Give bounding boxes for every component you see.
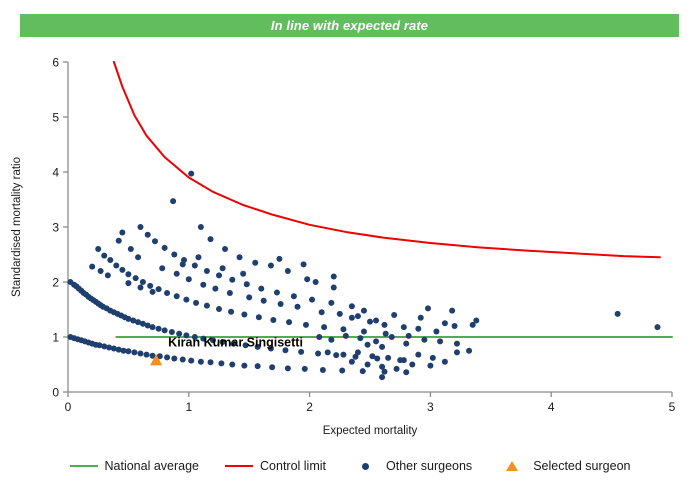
data-point xyxy=(113,263,119,269)
data-point xyxy=(256,314,262,320)
y-tick-label: 5 xyxy=(52,111,59,125)
y-axis-title: Standardised mortality ratio xyxy=(11,157,23,297)
data-point xyxy=(369,353,375,359)
data-point xyxy=(355,313,361,319)
data-point xyxy=(291,293,297,299)
data-point xyxy=(454,341,460,347)
data-point xyxy=(313,279,319,285)
data-point xyxy=(101,253,107,259)
data-point xyxy=(119,230,125,236)
data-point xyxy=(302,366,308,372)
x-tick-label: 2 xyxy=(306,400,313,414)
data-point xyxy=(365,362,371,368)
data-point xyxy=(333,352,339,358)
data-point xyxy=(150,324,156,330)
data-point xyxy=(449,308,455,314)
data-point xyxy=(150,289,156,295)
data-point xyxy=(276,256,282,262)
data-point xyxy=(343,333,349,339)
data-point xyxy=(401,357,407,363)
legend-label-control-limit: Control limit xyxy=(260,460,326,473)
data-point xyxy=(137,224,143,230)
data-point xyxy=(269,364,275,370)
data-point xyxy=(98,268,104,274)
data-point xyxy=(255,363,261,369)
data-point xyxy=(452,323,458,329)
data-point xyxy=(128,246,134,252)
data-point xyxy=(421,337,427,343)
data-point xyxy=(268,263,274,269)
data-point xyxy=(373,338,379,344)
funnel-plot-chart: 0123456012345Expected mortalityStandardi… xyxy=(0,40,700,450)
data-point xyxy=(331,285,337,291)
data-point xyxy=(295,304,301,310)
data-point xyxy=(361,329,367,335)
data-point xyxy=(198,359,204,365)
data-point xyxy=(442,359,448,365)
data-point xyxy=(216,306,222,312)
data-point xyxy=(360,368,366,374)
x-tick-label: 3 xyxy=(427,400,434,414)
data-point xyxy=(164,290,170,296)
data-point xyxy=(212,286,218,292)
data-point xyxy=(116,238,122,244)
data-point xyxy=(285,365,291,371)
data-point xyxy=(95,246,101,252)
data-point xyxy=(193,300,199,306)
data-point xyxy=(357,335,363,341)
data-point xyxy=(105,272,111,278)
data-point xyxy=(340,326,346,332)
data-point xyxy=(349,303,355,309)
data-point xyxy=(156,326,162,332)
data-point xyxy=(270,317,276,323)
data-point xyxy=(125,271,131,277)
data-point xyxy=(162,245,168,251)
data-point xyxy=(286,319,292,325)
data-point xyxy=(303,322,309,328)
data-point xyxy=(188,171,194,177)
legend-item-selected-surgeon[interactable]: Selected surgeon xyxy=(498,460,630,473)
y-tick-label: 6 xyxy=(52,56,59,70)
data-point xyxy=(328,300,334,306)
data-point xyxy=(162,327,168,333)
y-tick-label: 2 xyxy=(52,276,59,290)
chart-legend: National averageControl limitOther surge… xyxy=(0,452,700,480)
data-point xyxy=(198,224,204,230)
data-point xyxy=(241,311,247,317)
data-point xyxy=(361,308,367,314)
data-point xyxy=(285,268,291,274)
data-point xyxy=(466,348,472,354)
data-point xyxy=(316,334,322,340)
data-point xyxy=(433,329,439,335)
data-point xyxy=(409,362,415,368)
data-point xyxy=(394,366,400,372)
legend-label-other-surgeons: Other surgeons xyxy=(386,460,472,473)
legend-item-other-surgeons[interactable]: Other surgeons xyxy=(352,460,472,473)
data-point xyxy=(169,329,175,335)
funnel-plot-page: In line with expected rate 0123456012345… xyxy=(0,0,700,500)
data-point xyxy=(379,374,385,380)
data-point xyxy=(119,267,125,273)
data-point xyxy=(454,349,460,355)
data-point xyxy=(473,318,479,324)
data-point xyxy=(156,286,162,292)
data-point xyxy=(186,276,192,282)
data-point xyxy=(406,333,412,339)
data-point xyxy=(237,254,243,260)
data-point xyxy=(304,276,310,282)
series-line-control-limit xyxy=(114,62,660,257)
data-point xyxy=(159,265,165,271)
data-point xyxy=(137,351,143,357)
data-point xyxy=(437,338,443,344)
data-point xyxy=(442,320,448,326)
chart-container: 0123456012345Expected mortalityStandardi… xyxy=(0,40,700,450)
data-point xyxy=(220,265,226,271)
y-tick-label: 4 xyxy=(52,166,59,180)
legend-label-selected-surgeon: Selected surgeon xyxy=(533,460,630,473)
data-point xyxy=(321,324,327,330)
data-point xyxy=(427,363,433,369)
data-point xyxy=(107,257,113,263)
x-axis-title: Expected mortality xyxy=(323,425,418,437)
data-point xyxy=(192,263,198,269)
y-tick-label: 0 xyxy=(52,386,59,400)
legend-dot-swatch-other-surgeons xyxy=(362,463,369,470)
data-point xyxy=(147,283,153,289)
data-point xyxy=(140,279,146,285)
legend-item-national-average[interactable]: National average xyxy=(70,460,200,473)
data-point xyxy=(180,357,186,363)
data-point xyxy=(137,285,143,291)
data-point xyxy=(229,362,235,368)
data-point xyxy=(195,254,201,260)
data-point xyxy=(164,354,170,360)
series-points-other-surgeons xyxy=(67,171,660,381)
status-banner-label: In line with expected rate xyxy=(271,19,428,32)
legend-triangle-swatch-selected-surgeon xyxy=(506,461,518,471)
data-point xyxy=(349,315,355,321)
data-point xyxy=(171,252,177,258)
data-point xyxy=(258,286,264,292)
selected-surgeon-annotation: Kiran Kumar Singisetti xyxy=(168,336,303,350)
data-point xyxy=(385,355,391,361)
legend-item-control-limit[interactable]: Control limit xyxy=(225,460,326,473)
data-point xyxy=(367,319,373,325)
data-point xyxy=(188,358,194,364)
data-point xyxy=(298,349,304,355)
data-point xyxy=(340,352,346,358)
data-point xyxy=(240,271,246,277)
data-point xyxy=(615,311,621,317)
data-point xyxy=(131,349,137,355)
data-point xyxy=(171,355,177,361)
data-point xyxy=(229,277,235,283)
data-point xyxy=(328,337,334,343)
data-point xyxy=(415,326,421,332)
data-point xyxy=(379,364,385,370)
data-point xyxy=(383,331,389,337)
x-tick-label: 0 xyxy=(65,400,72,414)
data-point xyxy=(415,352,421,358)
data-point xyxy=(425,305,431,311)
data-point xyxy=(274,289,280,295)
data-point xyxy=(379,344,385,350)
data-point xyxy=(208,359,214,365)
data-point xyxy=(145,232,151,238)
data-point xyxy=(403,369,409,375)
data-point xyxy=(227,290,233,296)
data-point xyxy=(389,334,395,340)
data-point xyxy=(337,311,343,317)
data-point xyxy=(133,275,139,281)
data-point xyxy=(349,359,355,365)
data-point xyxy=(319,309,325,315)
data-point xyxy=(418,315,424,321)
data-point xyxy=(208,236,214,242)
data-point xyxy=(244,281,250,287)
data-point xyxy=(261,298,267,304)
data-point xyxy=(315,351,321,357)
data-point xyxy=(222,246,228,252)
data-point xyxy=(144,352,150,358)
data-point xyxy=(278,301,284,307)
data-point xyxy=(331,274,337,280)
data-point xyxy=(339,368,345,374)
data-point xyxy=(218,360,224,366)
legend-line-swatch-national-average xyxy=(70,465,98,467)
legend-label-national-average: National average xyxy=(105,460,200,473)
data-point xyxy=(301,261,307,267)
data-point xyxy=(174,271,180,277)
y-tick-label: 1 xyxy=(52,331,59,345)
data-point xyxy=(373,318,379,324)
status-banner: In line with expected rate xyxy=(20,14,679,37)
data-point xyxy=(655,324,661,330)
data-point xyxy=(125,280,131,286)
data-point xyxy=(401,324,407,330)
data-point xyxy=(204,268,210,274)
data-point xyxy=(125,348,131,354)
data-point xyxy=(174,293,180,299)
data-point xyxy=(170,198,176,204)
x-tick-label: 4 xyxy=(548,400,555,414)
data-point xyxy=(320,367,326,373)
data-point xyxy=(325,349,331,355)
data-point xyxy=(246,294,252,300)
data-point xyxy=(309,297,315,303)
x-tick-label: 1 xyxy=(185,400,192,414)
data-point xyxy=(135,254,141,260)
data-point xyxy=(430,355,436,361)
data-point xyxy=(180,261,186,267)
data-point xyxy=(183,297,189,303)
data-point xyxy=(355,349,361,355)
data-point xyxy=(228,309,234,315)
y-tick-label: 3 xyxy=(52,221,59,235)
data-point xyxy=(391,312,397,318)
data-point xyxy=(241,363,247,369)
legend-line-swatch-control-limit xyxy=(225,465,253,467)
data-point xyxy=(365,342,371,348)
data-point xyxy=(403,341,409,347)
x-tick-label: 5 xyxy=(669,400,676,414)
data-point xyxy=(200,282,206,288)
data-point xyxy=(252,260,258,266)
data-point xyxy=(382,322,388,328)
data-point xyxy=(152,238,158,244)
data-point xyxy=(216,272,222,278)
data-point xyxy=(89,264,95,270)
data-point xyxy=(204,303,210,309)
